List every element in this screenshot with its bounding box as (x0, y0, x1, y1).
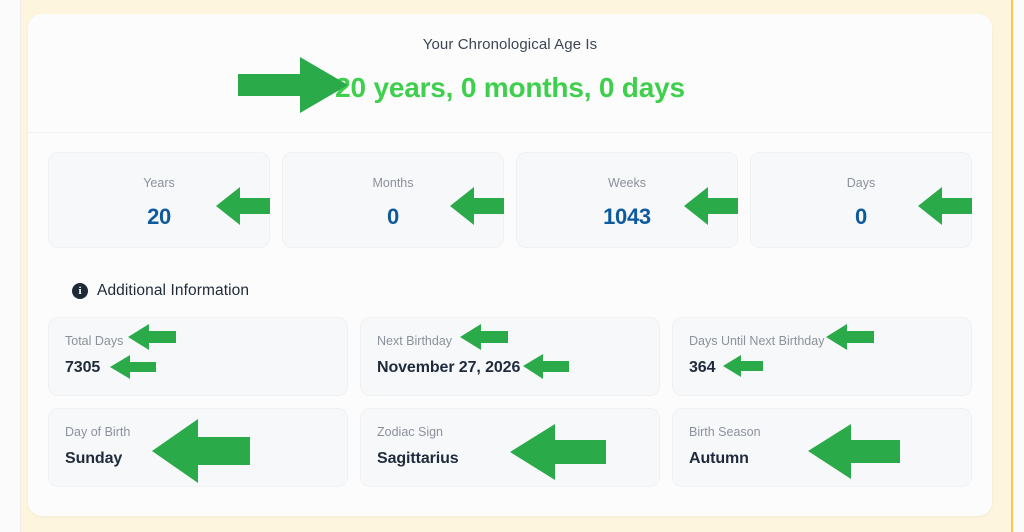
hero-label: Your Chronological Age Is (28, 36, 992, 53)
page-left-gutter (0, 0, 21, 532)
stat-label: Days (751, 176, 971, 190)
stat-value: 20 (49, 204, 269, 230)
stat-value: 1043 (517, 204, 737, 230)
stat-card-years: Years 20 (48, 152, 270, 248)
info-value: Sagittarius (377, 450, 459, 468)
info-label: Days Until Next Birthday (689, 334, 824, 348)
info-card-day-of-birth: Day of Birth Sunday (48, 408, 348, 487)
info-card-zodiac-sign: Zodiac Sign Sagittarius (360, 408, 660, 487)
info-value: 7305 (65, 359, 100, 377)
info-label: Zodiac Sign (377, 425, 443, 439)
hero-section: Your Chronological Age Is 20 years, 0 mo… (28, 14, 992, 133)
additional-information-heading: i Additional Information (72, 282, 249, 300)
info-card-days-until-next-birthday: Days Until Next Birthday 364 (672, 317, 972, 396)
info-value: 364 (689, 359, 715, 377)
info-label: Day of Birth (65, 425, 130, 439)
page-right-gutter (1013, 0, 1024, 532)
stat-value: 0 (751, 204, 971, 230)
info-card-birth-season: Birth Season Autumn (672, 408, 972, 487)
page-root: Your Chronological Age Is 20 years, 0 mo… (0, 0, 1024, 532)
stat-card-months: Months 0 (282, 152, 504, 248)
stat-label: Months (283, 176, 503, 190)
additional-information-grid: Total Days 7305 Next Birthday November 2… (48, 317, 972, 487)
info-label: Birth Season (689, 425, 761, 439)
hero-age-value: 20 years, 0 months, 0 days (28, 72, 992, 104)
stat-label: Weeks (517, 176, 737, 190)
info-label: Next Birthday (377, 334, 452, 348)
info-value: Sunday (65, 450, 122, 468)
stat-label: Years (49, 176, 269, 190)
stat-card-row: Years 20 Months 0 Weeks 1043 Days 0 (48, 152, 972, 248)
section-title: Additional Information (97, 282, 249, 300)
stat-value: 0 (283, 204, 503, 230)
info-card-total-days: Total Days 7305 (48, 317, 348, 396)
info-card-next-birthday: Next Birthday November 27, 2026 (360, 317, 660, 396)
stat-card-weeks: Weeks 1043 (516, 152, 738, 248)
stat-card-days: Days 0 (750, 152, 972, 248)
info-circle-icon: i (72, 283, 88, 299)
info-label: Total Days (65, 334, 123, 348)
info-value: Autumn (689, 450, 749, 468)
age-result-card: Your Chronological Age Is 20 years, 0 mo… (28, 14, 992, 516)
info-value: November 27, 2026 (377, 359, 520, 377)
